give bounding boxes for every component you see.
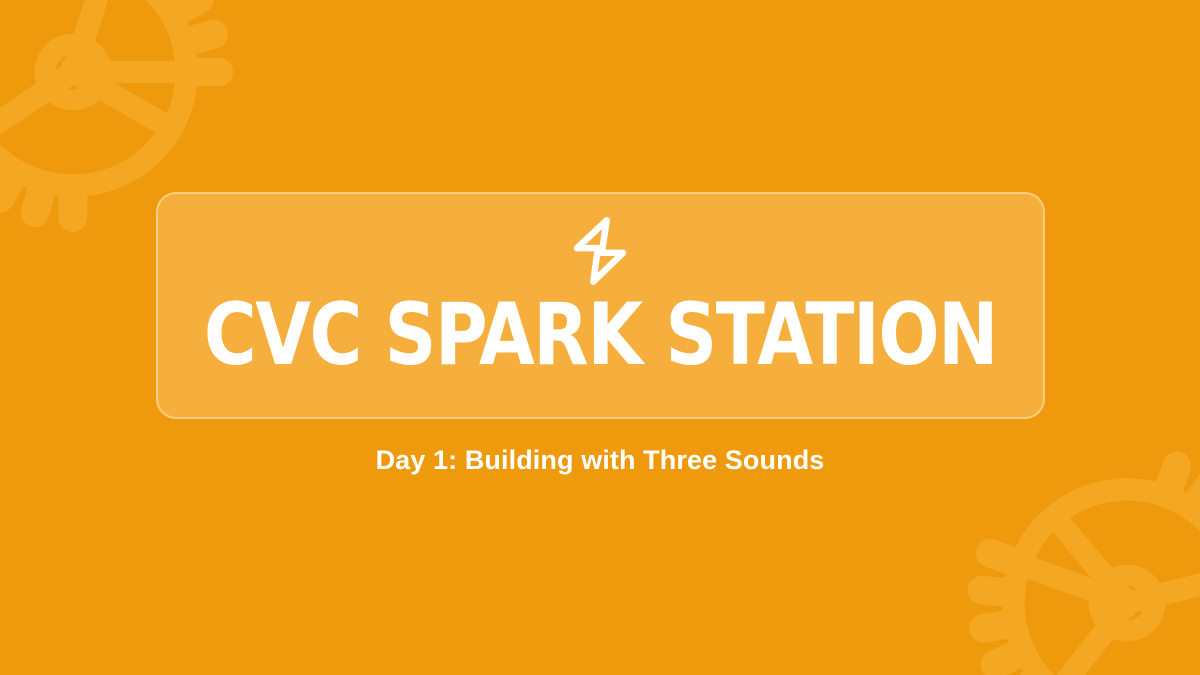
slide-content: CVC SPARK STATION Day 1: Building with T…: [0, 192, 1200, 476]
slide-subtitle: Day 1: Building with Three Sounds: [376, 445, 825, 476]
lightning-bolt-icon: [569, 216, 631, 286]
gear-icon: [967, 443, 1200, 675]
page-title: CVC SPARK STATION: [203, 292, 996, 378]
title-card: CVC SPARK STATION: [156, 192, 1045, 419]
title-slide: CVC SPARK STATION Day 1: Building with T…: [0, 0, 1200, 675]
